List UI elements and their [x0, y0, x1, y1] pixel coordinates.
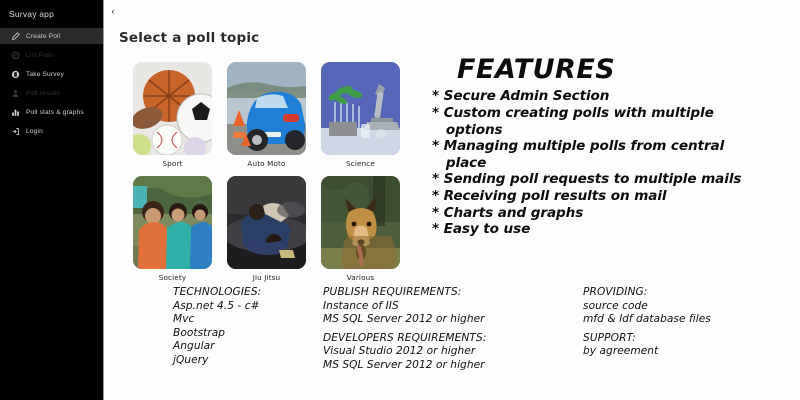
pencil-icon — [11, 32, 20, 41]
info-line: Mvc — [173, 313, 308, 327]
sidebar-item-label: Poll stats & graphs — [26, 109, 84, 116]
sidebar-item-label: List Polls — [26, 52, 54, 59]
sidebar-item-login[interactable]: Login — [0, 123, 103, 139]
feature-item: * Receiving poll results on mail — [432, 188, 792, 205]
page-title: Select a poll topic — [119, 30, 259, 46]
blue-car-photo[interactable] — [227, 62, 306, 155]
feature-item: * Managing multiple polls from central p… — [432, 138, 792, 171]
sidebar-item-label: Poll results — [26, 90, 60, 97]
section-heading: DEVELOPERS REQUIREMENTS: — [323, 332, 553, 346]
info-line: jQuery — [173, 354, 308, 368]
sidebar-nav-list: Create Poll List Polls Take Survey Poll … — [0, 28, 103, 139]
sign-in-icon — [11, 127, 20, 136]
topic-label: Science — [321, 159, 400, 168]
sport-balls-photo[interactable] — [133, 62, 212, 155]
topic-card-auto-moto[interactable]: Auto Moto — [227, 62, 306, 168]
topic-row: Society — [133, 176, 405, 282]
feature-item: * Secure Admin Section — [432, 88, 792, 105]
list-icon — [11, 51, 20, 60]
feature-item: * Sending poll requests to multiple mail… — [432, 171, 792, 188]
app-brand-title: Survay app — [0, 0, 103, 26]
topic-card-various[interactable]: Various — [321, 176, 400, 282]
topic-row: Sport — [133, 62, 405, 168]
chevron-left-icon[interactable]: ‹ — [106, 4, 120, 18]
topic-card-sport[interactable]: Sport — [133, 62, 212, 168]
info-line: Bootstrap — [173, 327, 308, 341]
topic-label: Various — [321, 273, 400, 282]
topic-label: Society — [133, 273, 212, 282]
microscope-plants-photo[interactable] — [321, 62, 400, 155]
german-shepherd-dog-photo[interactable] — [321, 176, 400, 269]
user-icon — [11, 89, 20, 98]
section-heading: PUBLISH REQUIREMENTS: — [323, 286, 553, 300]
feature-item: * Charts and graphs — [432, 205, 792, 222]
clipboard-icon — [11, 70, 20, 79]
sidebar-item-create-poll[interactable]: Create Poll — [0, 28, 103, 44]
topic-grid: Sport — [133, 62, 405, 290]
sidebar-item-label: Create Poll — [26, 33, 60, 40]
info-line: Visual Studio 2012 or higher — [323, 345, 553, 359]
requirements-column: PUBLISH REQUIREMENTS: Instance of IIS MS… — [323, 286, 553, 373]
info-line: source code — [583, 300, 783, 314]
main-content: Select a poll topic — [105, 0, 800, 400]
info-line: Instance of IIS — [323, 300, 553, 314]
features-panel: FEATURES * Secure Admin Section * Custom… — [432, 56, 792, 238]
sidebar: Survay app Create Poll List Polls Take S… — [0, 0, 104, 400]
jiu-jitsu-photo[interactable] — [227, 176, 306, 269]
sidebar-item-take-survey[interactable]: Take Survey — [0, 66, 103, 82]
info-line: by agreement — [583, 345, 783, 359]
sidebar-item-label: Login — [26, 128, 43, 135]
people-group-photo[interactable] — [133, 176, 212, 269]
sidebar-item-poll-stats-graphs[interactable]: Poll stats & graphs — [0, 104, 103, 120]
info-line: mfd & ldf database files — [583, 313, 783, 327]
bar-chart-icon — [11, 108, 20, 117]
feature-item: * Custom creating polls with multiple op… — [432, 105, 792, 138]
section-heading: TECHNOLOGIES: — [173, 286, 308, 300]
technologies-column: TECHNOLOGIES: Asp.net 4.5 - c# Mvc Boots… — [173, 286, 308, 368]
sidebar-item-poll-results[interactable]: Poll results — [0, 85, 103, 101]
section-heading: PROVIDING: — [583, 286, 783, 300]
info-line: MS SQL Server 2012 or higher — [323, 359, 553, 373]
app-root: Survay app Create Poll List Polls Take S… — [0, 0, 800, 400]
info-line: Angular — [173, 340, 308, 354]
feature-item: * Easy to use — [432, 221, 792, 238]
topic-label: Jiu Jitsu — [227, 273, 306, 282]
info-line: Asp.net 4.5 - c# — [173, 300, 308, 314]
topic-card-jiu-jitsu[interactable]: Jiu Jitsu — [227, 176, 306, 282]
features-title: FEATURES — [457, 56, 792, 84]
topic-card-society[interactable]: Society — [133, 176, 212, 282]
sidebar-item-list-polls[interactable]: List Polls — [0, 47, 103, 63]
providing-support-column: PROVIDING: source code mfd & ldf databas… — [583, 286, 783, 359]
info-line: MS SQL Server 2012 or higher — [323, 313, 553, 327]
section-heading: SUPPORT: — [583, 332, 783, 346]
sidebar-item-label: Take Survey — [26, 71, 64, 78]
topic-label: Auto Moto — [227, 159, 306, 168]
topic-label: Sport — [133, 159, 212, 168]
topic-card-science[interactable]: Science — [321, 62, 400, 168]
